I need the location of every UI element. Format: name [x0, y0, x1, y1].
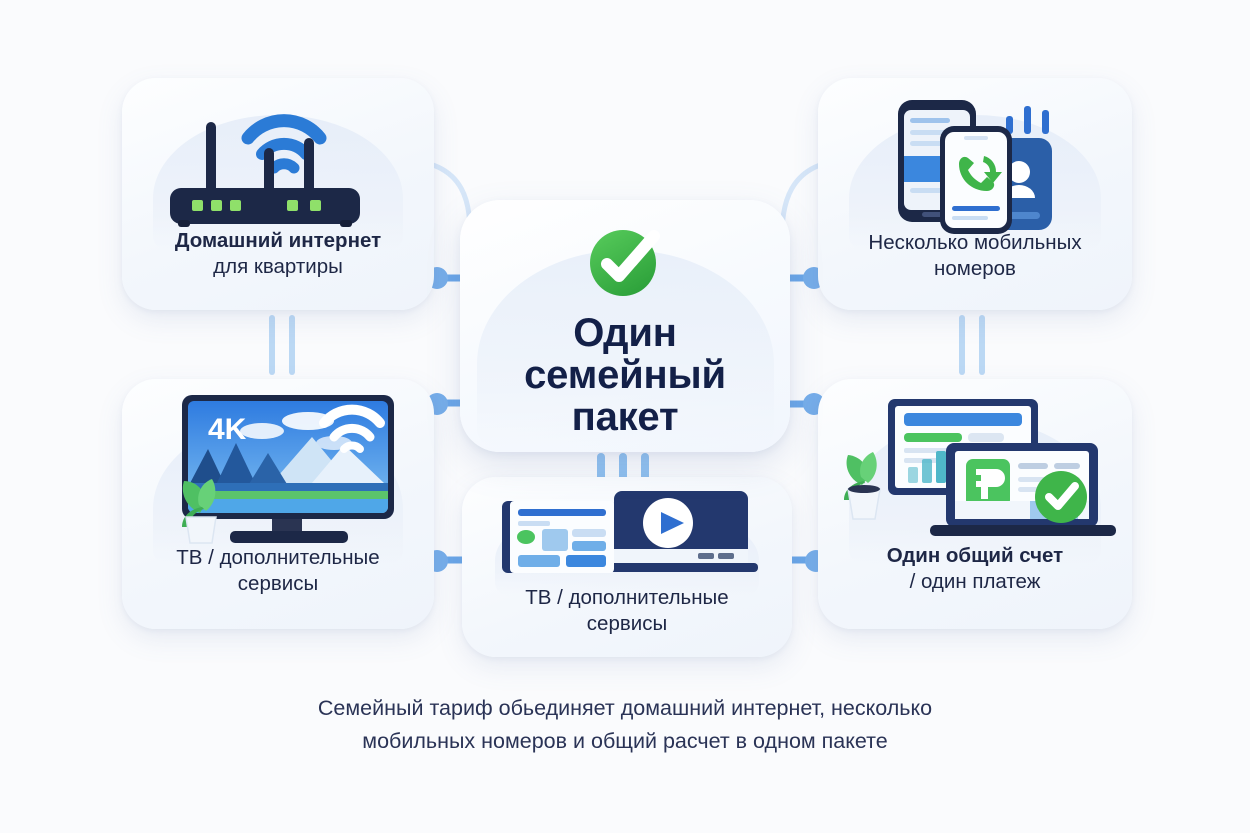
tablet-video-player-icon: [462, 483, 792, 583]
caption-line-2: / один платеж: [830, 569, 1120, 595]
center-title-line-2: семейный: [524, 354, 726, 396]
card-media-services[interactable]: ТВ / дополнительные сервисы: [462, 477, 792, 657]
caption-line-1: Один общий счет: [830, 543, 1120, 569]
wifi-router-icon: [122, 90, 434, 230]
card-media-services-caption: ТВ / дополнительные сервисы: [474, 585, 780, 637]
card-home-internet[interactable]: Домашний интернет для квартиры: [122, 78, 434, 310]
card-home-internet-caption: Домашний интернет для квартиры: [134, 228, 422, 280]
caption-line-2: номеров: [830, 256, 1120, 282]
infographic-canvas: Домашний интернет для квартиры: [0, 0, 1250, 833]
caption-line-2: для квартиры: [134, 254, 422, 280]
multiple-smartphones-icon: [818, 86, 1132, 234]
center-title: Один семейный пакет: [524, 312, 726, 438]
caption-line-1: Несколько мобильных: [830, 230, 1120, 256]
caption-line-2: сервисы: [134, 571, 422, 597]
caption-line-1: Домашний интернет: [134, 228, 422, 254]
caption-line-1: ТВ / дополнительные: [134, 545, 422, 571]
card-single-bill[interactable]: Один общий счет / один платеж: [818, 379, 1132, 629]
card-single-bill-caption: Один общий счет / один платеж: [830, 543, 1120, 595]
laptop-invoice-icon: [818, 389, 1132, 545]
card-mobile-numbers[interactable]: Несколько мобильных номеров: [818, 78, 1132, 310]
card-tv-services[interactable]: 4K ТВ / дополнительные сервисы: [122, 379, 434, 629]
card-mobile-numbers-caption: Несколько мобильных номеров: [830, 230, 1120, 282]
caption-line-2: сервисы: [474, 611, 780, 637]
footer-line-1: Семейный тариф обьединяет домашний интер…: [0, 692, 1250, 725]
card-center-family-package[interactable]: Один семейный пакет: [460, 200, 790, 452]
center-title-line-1: Один: [524, 312, 726, 354]
green-check-circle-icon: [582, 218, 668, 304]
footer-description: Семейный тариф обьединяет домашний интер…: [0, 692, 1250, 759]
center-title-line-3: пакет: [524, 396, 726, 438]
tv-4k-badge: 4K: [208, 413, 247, 446]
caption-line-1: ТВ / дополнительные: [474, 585, 780, 611]
card-tv-services-caption: ТВ / дополнительные сервисы: [134, 545, 422, 597]
television-4k-icon: 4K: [122, 387, 434, 547]
footer-line-2: мобильных номеров и общий расчет в одном…: [0, 725, 1250, 758]
